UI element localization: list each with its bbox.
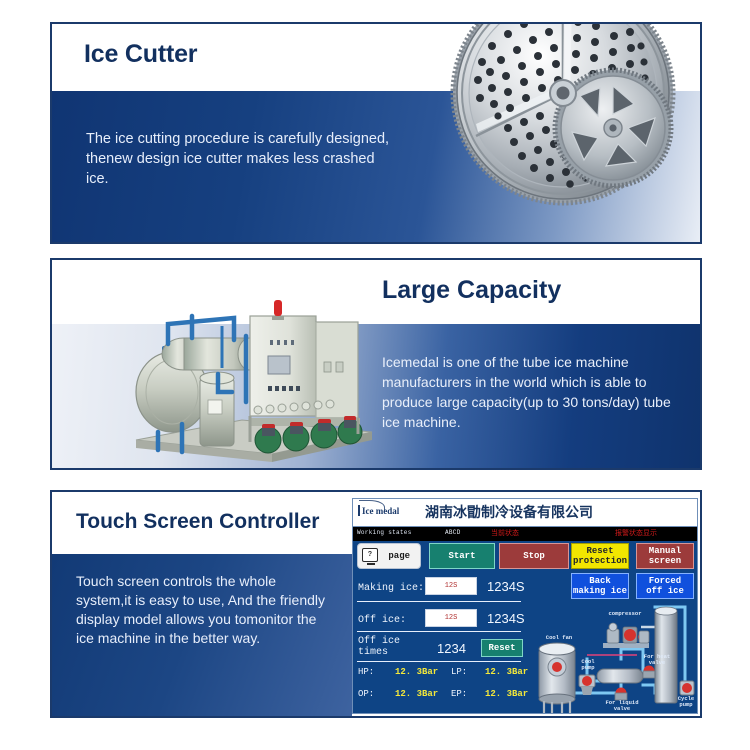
off-ice-times-line1: Off ice: [358, 636, 400, 647]
schematic-label-compressor: compressor: [601, 611, 649, 617]
hmi-status-bar: Working states ABCD 当前状态 报警状态显示: [353, 527, 697, 541]
status-abcd-value: ABCD: [445, 529, 461, 536]
panel1-title: Ice Cutter: [84, 40, 197, 69]
divider-1: [357, 601, 521, 602]
page-button-label: page: [388, 551, 410, 561]
schematic-label-for-liquid-valve: For liquid valve: [599, 700, 645, 712]
making-ice-input[interactable]: 12S: [425, 577, 477, 595]
start-button[interactable]: Start: [429, 543, 495, 569]
back-making-ice-button[interactable]: Back making ice: [571, 573, 629, 599]
making-ice-value: 1234S: [487, 579, 525, 594]
off-ice-input[interactable]: 12S: [425, 609, 477, 627]
reset-protection-button[interactable]: Reset protection: [571, 543, 629, 569]
lp-value: 12. 3Bar: [485, 667, 528, 677]
monitor-screen-icon: ?: [362, 548, 378, 562]
schematic-label-cycle-pump: Cycle pump: [673, 696, 697, 708]
start-button-label: Start: [448, 551, 475, 561]
status-current-state-cn: 当前状态: [491, 528, 519, 538]
reset-button-label: Reset: [488, 643, 515, 653]
schematic-label-for-heat-valve: For heat valve: [637, 654, 677, 666]
panel3-body: Touch screen controls the whole system,i…: [52, 554, 352, 718]
divider-3: [357, 661, 521, 662]
hp-value: 12. 3Bar: [395, 667, 438, 677]
hp-label: HP:: [358, 667, 374, 677]
back-making-ice-line2: making ice: [573, 586, 627, 596]
ep-label: EP:: [451, 689, 467, 699]
hmi-touch-screen-photo: Ice medal 湖南冰勖制冷设备有限公司 Working states AB…: [352, 498, 698, 714]
off-ice-times-value: 1234: [437, 641, 466, 656]
stop-button[interactable]: Stop: [499, 543, 569, 569]
manual-screen-line2: screen: [649, 556, 681, 566]
status-working-states-label: Working states: [357, 529, 412, 536]
manual-screen-button[interactable]: Manual screen: [636, 543, 694, 569]
forced-off-ice-button[interactable]: Forced off ice: [636, 573, 694, 599]
off-ice-times-line2: times: [358, 647, 388, 658]
tube-ice-machine-photo: [122, 282, 382, 467]
manual-screen-line1: Manual: [649, 546, 681, 556]
product-feature-page: Ice Cutter The ice cutting procedure is …: [0, 0, 750, 750]
divider-2: [357, 631, 521, 632]
ice-cutter-disc-photo: [448, 22, 678, 206]
op-value: 12. 3Bar: [395, 689, 438, 699]
off-ice-value: 1234S: [487, 611, 525, 626]
panel2-description: Icemedal is one of the tube ice machine …: [382, 352, 692, 432]
hmi-button-row: ? page Start Stop Reset protection: [353, 543, 697, 571]
reset-button[interactable]: Reset: [481, 639, 523, 657]
hmi-company-name-cn: 湖南冰勖制冷设备有限公司: [425, 502, 593, 522]
ep-value: 12. 3Bar: [485, 689, 528, 699]
back-making-ice-line1: Back: [589, 576, 611, 586]
making-ice-label: Making ice:: [358, 583, 424, 594]
forced-off-ice-line2: off ice: [646, 586, 684, 596]
schematic-label-cool-fan: Cool fan: [537, 635, 581, 641]
panel3-title: Touch Screen Controller: [76, 510, 319, 534]
status-alarm-display-cn: 报警状态显示: [615, 528, 657, 538]
panel1-description: The ice cutting procedure is carefully d…: [86, 129, 396, 189]
refrigeration-schematic: Cool fan Cool pump compressor For heat v…: [525, 597, 697, 714]
off-ice-label: Off ice:: [358, 615, 406, 626]
feature-panel-large-capacity: Large Capacity Icemedal is one of the tu…: [50, 258, 702, 470]
feature-panel-ice-cutter: Ice Cutter The ice cutting procedure is …: [50, 22, 702, 244]
hmi-brand-logo: Ice medal: [358, 505, 399, 516]
hmi-header: Ice medal 湖南冰勖制冷设备有限公司: [353, 499, 697, 527]
panel3-description: Touch screen controls the whole system,i…: [76, 572, 326, 648]
page-button[interactable]: ? page: [357, 543, 421, 569]
off-ice-times-label: Off ice times: [358, 636, 400, 658]
panel2-title: Large Capacity: [382, 276, 561, 305]
reset-protection-line1: Reset: [586, 546, 613, 556]
feature-panel-touch-screen-controller: Touch Screen Controller Touch screen con…: [50, 490, 702, 718]
lp-label: LP:: [451, 667, 467, 677]
forced-off-ice-line1: Forced: [649, 576, 681, 586]
hmi-main-area: ? page Start Stop Reset protection: [353, 541, 697, 714]
stop-button-label: Stop: [523, 551, 545, 561]
schematic-label-cool-pump: Cool pump: [575, 659, 601, 671]
reset-protection-line2: protection: [573, 556, 627, 566]
hmi-brand-text: Ice medal: [362, 506, 399, 516]
op-label: OP:: [358, 689, 374, 699]
